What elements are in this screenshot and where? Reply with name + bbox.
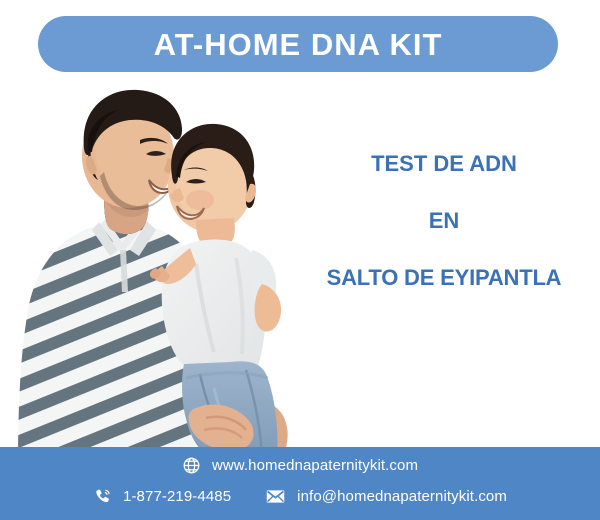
footer-website[interactable]: www.homednapaternitykit.com (182, 456, 418, 475)
headline-line-2: EN (296, 209, 592, 232)
footer-email[interactable]: info@homednapaternitykit.com (265, 486, 507, 507)
promo-poster: AT-HOME DNA KIT (0, 0, 600, 520)
footer-row-website: www.homednapaternitykit.com (0, 456, 600, 475)
footer-contact-bar: www.homednapaternitykit.com 1-877-219-44… (0, 447, 600, 520)
family-photo-illustration (0, 78, 330, 468)
phone-icon (93, 487, 112, 506)
headline-block: TEST DE ADN EN SALTO DE EYIPANTLA (296, 152, 592, 289)
website-label: www.homednapaternitykit.com (212, 457, 418, 474)
header-banner: AT-HOME DNA KIT (38, 16, 558, 72)
family-photo (0, 78, 330, 468)
headline-line-1: TEST DE ADN (296, 152, 592, 175)
footer-phone[interactable]: 1-877-219-4485 (93, 487, 231, 506)
headline-line-3: SALTO DE EYIPANTLA (296, 266, 592, 289)
globe-icon (182, 456, 201, 475)
header-title: AT-HOME DNA KIT (154, 29, 443, 60)
phone-label: 1-877-219-4485 (123, 488, 231, 505)
envelope-icon (265, 486, 286, 507)
footer-row-phone-email: 1-877-219-4485 info@homednapaternitykit.… (0, 486, 600, 507)
email-label: info@homednapaternitykit.com (297, 488, 507, 505)
